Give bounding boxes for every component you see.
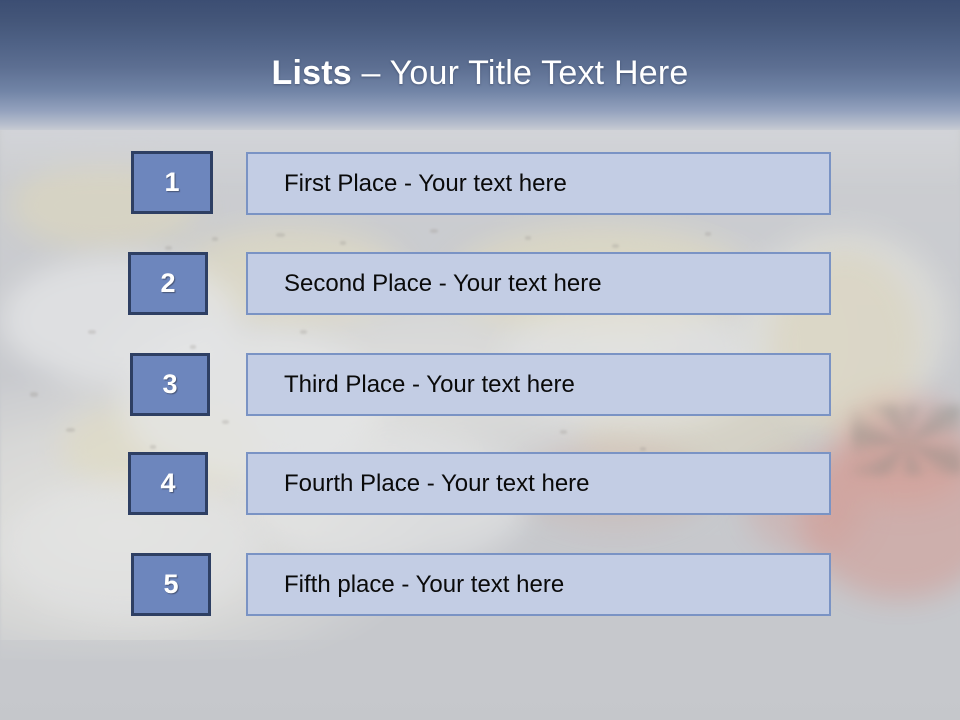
list-textbox-1[interactable]: First Place - Your text here xyxy=(246,152,831,215)
list-item[interactable]: 5 Fifth place - Your text here xyxy=(0,553,960,619)
list-number-badge-2[interactable]: 2 xyxy=(128,252,208,315)
list-item-label: Second Place - Your text here xyxy=(248,269,602,299)
list-textbox-3[interactable]: Third Place - Your text here xyxy=(246,353,831,416)
list-item-label: Fifth place - Your text here xyxy=(248,570,564,600)
list-textbox-2[interactable]: Second Place - Your text here xyxy=(246,252,831,315)
list-item[interactable]: 4 Fourth Place - Your text here xyxy=(0,452,960,518)
list-textbox-5[interactable]: Fifth place - Your text here xyxy=(246,553,831,616)
list-number-badge-5[interactable]: 5 xyxy=(131,553,211,616)
list-number-badge-1[interactable]: 1 xyxy=(131,151,213,214)
list-item[interactable]: 2 Second Place - Your text here xyxy=(0,252,960,318)
list-number-badge-4[interactable]: 4 xyxy=(128,452,208,515)
list-item-label: Fourth Place - Your text here xyxy=(248,469,590,499)
list-textbox-4[interactable]: Fourth Place - Your text here xyxy=(246,452,831,515)
list-number-badge-3[interactable]: 3 xyxy=(130,353,210,416)
list-item[interactable]: 1 First Place - Your text here xyxy=(0,151,960,217)
list-item-label: First Place - Your text here xyxy=(248,169,567,199)
slide-canvas: Lists – Your Title Text Here 1 First Pla… xyxy=(0,0,960,720)
list-rows: 1 First Place - Your text here 2 Second … xyxy=(0,0,960,720)
list-item[interactable]: 3 Third Place - Your text here xyxy=(0,353,960,419)
list-item-label: Third Place - Your text here xyxy=(248,370,575,400)
